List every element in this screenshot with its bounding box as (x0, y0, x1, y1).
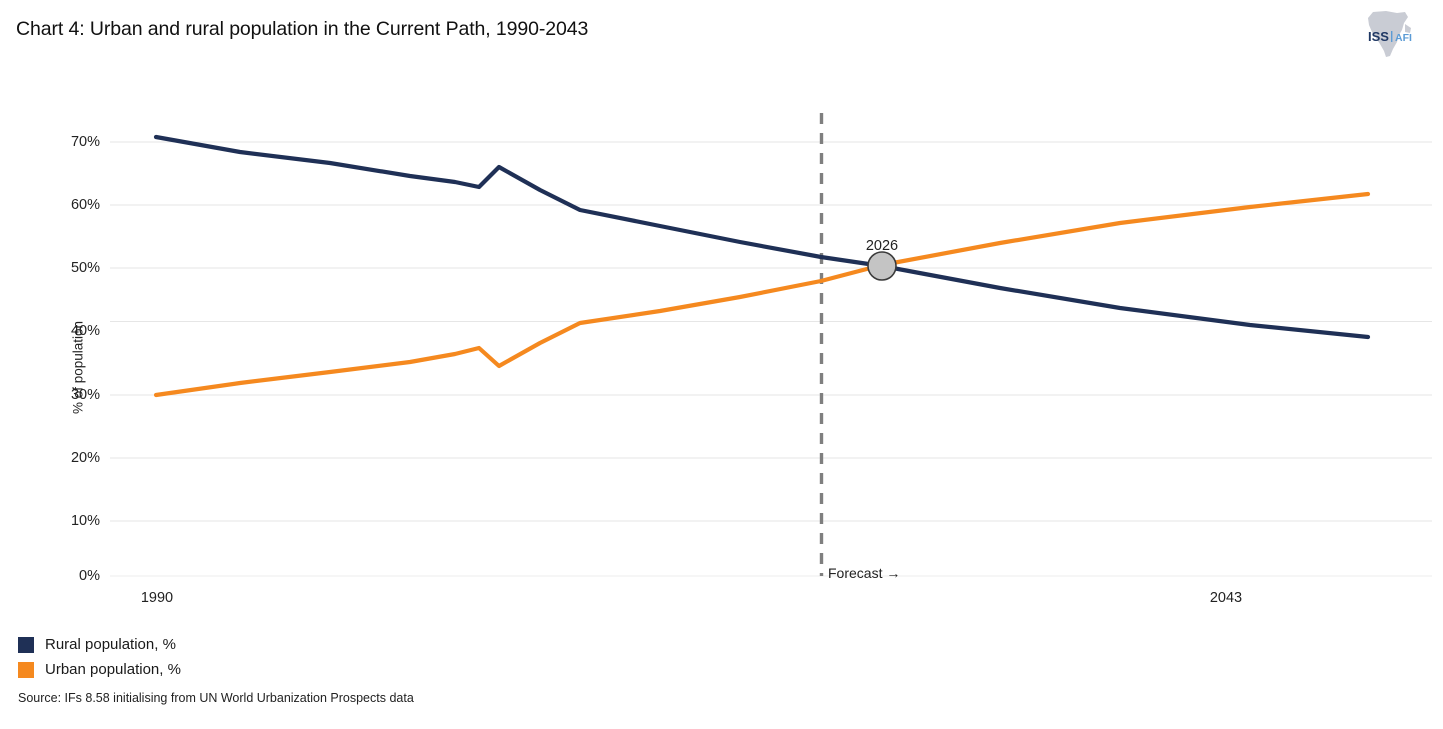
series-line-rural (156, 137, 1368, 337)
legend-swatch-urban (18, 662, 34, 678)
chart-page: Chart 4: Urban and rural population in t… (0, 0, 1443, 729)
legend-label-rural: Rural population, % (45, 636, 176, 653)
x-tick-label-end: 2043 (1210, 590, 1242, 606)
legend-item-urban[interactable]: Urban population, % (18, 657, 181, 682)
y-tick-label: 50% (40, 260, 100, 276)
y-tick-label: 0% (40, 568, 100, 584)
source-note: Source: IFs 8.58 initialising from UN Wo… (18, 691, 414, 705)
y-axis: 70% 60% 50% 40% 30% 20% 10% 0% % of popu… (40, 0, 100, 729)
y-tick-label: 10% (40, 513, 100, 529)
forecast-label: Forecast → (828, 565, 900, 581)
chart-legend: Rural population, % Urban population, % (18, 632, 181, 682)
legend-label-urban: Urban population, % (45, 661, 181, 678)
legend-item-rural[interactable]: Rural population, % (18, 632, 181, 657)
y-tick-label: 60% (40, 197, 100, 213)
chart-plot-area (0, 0, 1443, 729)
y-tick-label: 70% (40, 134, 100, 150)
y-tick-label: 20% (40, 450, 100, 466)
gridlines (110, 142, 1432, 521)
legend-swatch-rural (18, 637, 34, 653)
series-line-urban (156, 194, 1368, 395)
crossover-year-label: 2026 (866, 238, 898, 254)
y-axis-title: % of population (71, 298, 86, 438)
x-tick-label-start: 1990 (141, 590, 173, 606)
crossover-marker (868, 252, 896, 280)
